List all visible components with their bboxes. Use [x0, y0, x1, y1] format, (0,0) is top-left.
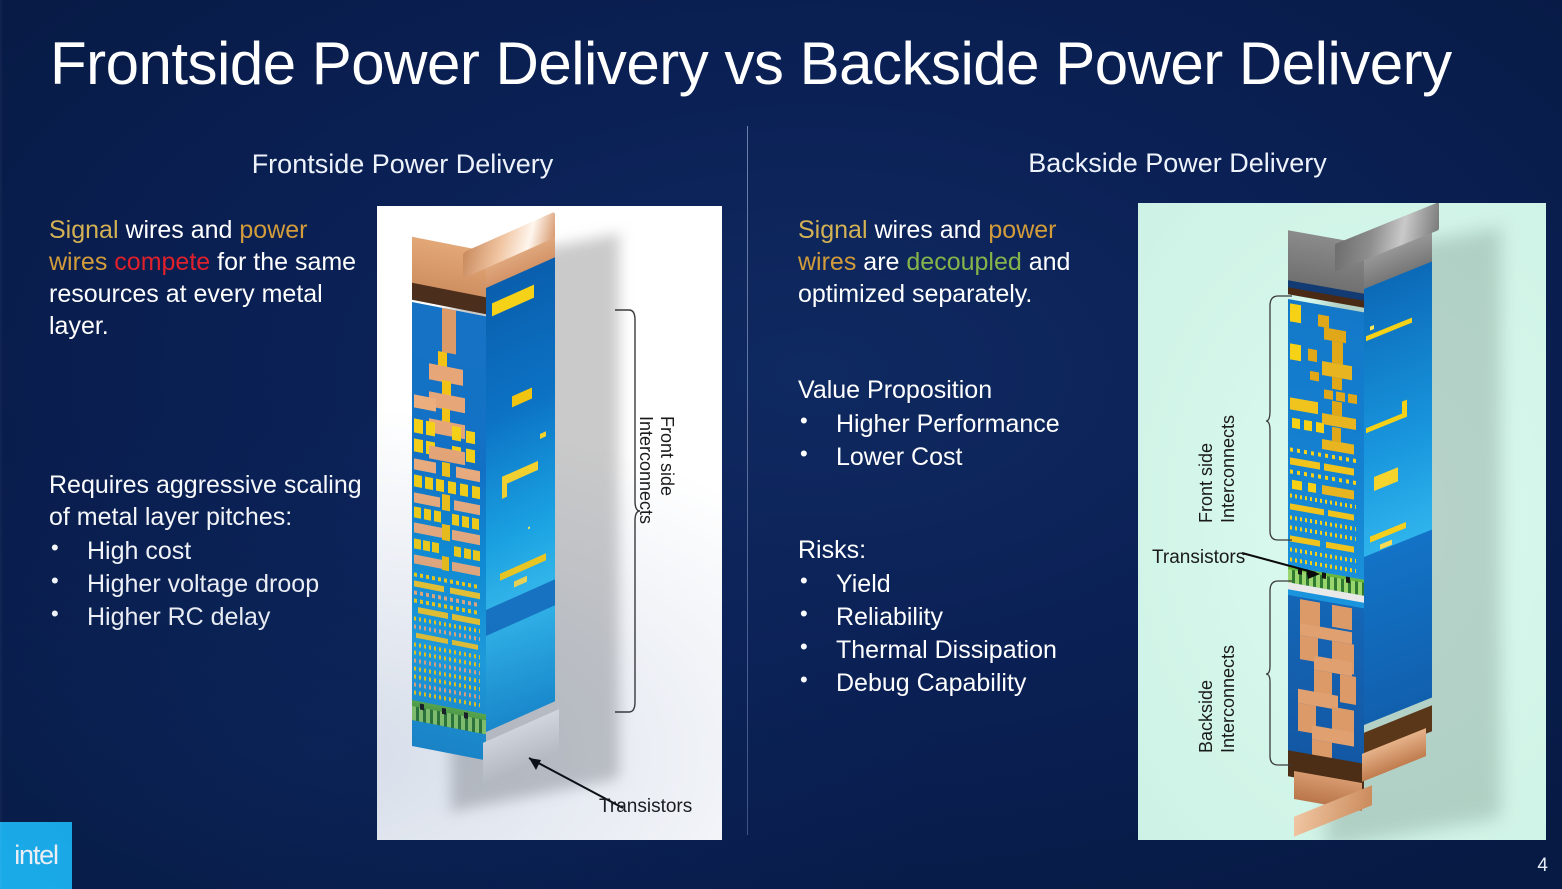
metal-wire: [442, 524, 450, 542]
metal-wire: [466, 430, 475, 444]
copper-rail: [454, 500, 480, 515]
metal-wire: [472, 518, 479, 530]
page-number: 4: [1537, 855, 1548, 877]
frontside-interconnects-brace-right: [1266, 293, 1294, 543]
risks-heading: Risks:: [798, 534, 1128, 566]
page-title: Frontside Power Delivery vs Backside Pow…: [50, 32, 1550, 95]
metal-wire: [416, 633, 448, 644]
metal-wire: [452, 614, 480, 625]
left-lead-conn: wires and: [119, 216, 240, 244]
metal-wire: [426, 421, 435, 437]
value-proposition-heading: Value Proposition: [798, 374, 1128, 406]
backside-interconnects-label-line1: Backside: [1196, 645, 1218, 753]
risks-bullets: Yield Reliability Thermal Dissipation De…: [798, 568, 1128, 699]
right-risks-block: Risks: Yield Reliability Thermal Dissipa…: [798, 534, 1128, 699]
left-lead-compete: compete: [114, 248, 210, 276]
metal-wire: [423, 540, 430, 551]
metal-wire: [1324, 463, 1354, 475]
metal-wire: [452, 640, 478, 650]
backside-region-front-face: [1288, 595, 1364, 776]
side-wire: [502, 475, 507, 499]
metal-wire: [454, 546, 461, 557]
transistor-gate: [420, 704, 424, 711]
metal-wire: [452, 514, 459, 526]
copper-power-rail: [1332, 605, 1352, 631]
transistors-label-right: Transistors: [1152, 547, 1245, 569]
backside-diagram-panel: Front side Interconnects Transistors Bac…: [1138, 203, 1546, 840]
right-column-heading: Backside Power Delivery: [895, 148, 1460, 179]
frontside-interconnects-label-line2: Interconnects: [635, 416, 656, 524]
right-lead-are: are: [863, 248, 906, 276]
backside-interconnects-label: Backside Interconnects: [1196, 645, 1239, 753]
metal-wire: [460, 483, 468, 497]
frontside-interconnects-label-right: Front side Interconnects: [1196, 415, 1239, 523]
side-wire: [1366, 412, 1406, 433]
backside-region-side-face: [1364, 530, 1432, 725]
list-item: Lower Cost: [798, 441, 1128, 473]
transistors-label-left: Transistors: [599, 796, 692, 818]
list-item: Reliability: [798, 601, 1128, 633]
copper-rail: [414, 522, 442, 537]
metal-wire: [1336, 391, 1345, 402]
metal-wire: [414, 474, 422, 488]
right-lead-signal: Signal: [798, 216, 868, 244]
metal-wire: [432, 542, 439, 553]
metal-wire: [1322, 485, 1354, 500]
transistor-gate: [464, 712, 468, 719]
metal-wire: [462, 516, 469, 528]
list-item: Yield: [798, 568, 1128, 600]
list-item: Higher RC delay: [49, 601, 379, 633]
metal-wire: [466, 448, 475, 463]
transistors-pointer-right: [1238, 543, 1328, 583]
slide-canvas: Frontside Power Delivery vs Backside Pow…: [0, 0, 1562, 889]
left-column-heading: Frontside Power Delivery: [120, 149, 685, 180]
metal-wire: [1308, 349, 1317, 363]
list-item: Higher Performance: [798, 408, 1128, 440]
copper-power-rail: [1340, 674, 1356, 705]
list-item: Thermal Dissipation: [798, 634, 1128, 666]
side-wire: [528, 526, 530, 529]
side-wire: [502, 461, 538, 486]
metal-wire: [1348, 394, 1357, 405]
left-scaling-bullets: High cost Higher voltage droop Higher RC…: [49, 535, 379, 633]
copper-rail: [414, 458, 436, 473]
backside-interconnects-label-line2: Interconnects: [1218, 645, 1240, 753]
left-scaling-block: Requires aggressive scaling of metal lay…: [49, 469, 379, 633]
transistor-gate: [442, 708, 446, 715]
right-lead-conn: wires and: [868, 216, 989, 244]
metal-wire: [414, 506, 421, 518]
metal-wire: [473, 550, 480, 561]
die-front-face: [412, 302, 486, 760]
metal-wire: [442, 556, 449, 571]
frontside-diagram-panel: Front side Interconnects Transistors: [377, 206, 722, 840]
metal-wire: [414, 438, 423, 453]
metal-wire: [425, 477, 433, 491]
side-wire: [1370, 325, 1374, 331]
metal-wire: [414, 538, 421, 549]
left-lead-paragraph: Signal wires and power wires compete for…: [49, 214, 367, 342]
frontside-interconnects-label-line1: Front side: [656, 416, 677, 524]
metal-wire: [448, 481, 456, 495]
metal-wire: [1332, 377, 1342, 391]
intel-logo: intel: [0, 822, 72, 889]
die-side-face: [486, 257, 555, 732]
metal-wire: [1326, 542, 1354, 553]
intel-logo-text: intel: [14, 840, 58, 871]
side-band: [486, 579, 555, 636]
side-wire: [540, 431, 546, 439]
copper-via: [442, 308, 456, 355]
right-lead-decoupled: decoupled: [906, 248, 1021, 276]
transistor-gate: [1346, 577, 1350, 584]
value-proposition-bullets: Higher Performance Lower Cost: [798, 408, 1128, 473]
copper-rail: [456, 467, 480, 483]
metal-wire: [434, 510, 441, 522]
metal-wire: [1310, 371, 1319, 382]
metal-wire: [452, 426, 461, 442]
metal-wire: [1316, 422, 1324, 433]
left-lead-signal: Signal: [49, 216, 119, 244]
right-value-proposition-block: Value Proposition Higher Performance Low…: [798, 374, 1128, 473]
side-wire: [514, 576, 527, 588]
metal-wire: [1308, 483, 1316, 493]
metal-wire: [1290, 503, 1324, 515]
side-wire: [1370, 522, 1406, 543]
list-item: High cost: [49, 535, 379, 567]
frontside-interconnects-label: Front side Interconnects: [635, 416, 677, 524]
left-scaling-heading: Requires aggressive scaling of metal lay…: [49, 469, 379, 533]
copper-rail: [452, 530, 480, 545]
side-wire: [492, 285, 534, 317]
copper-rail: [452, 562, 480, 576]
metal-wire: [442, 462, 450, 478]
list-item: Higher voltage droop: [49, 568, 379, 600]
frontside-interconnects-label-right-line2: Interconnects: [1218, 415, 1240, 523]
side-wire: [1402, 400, 1407, 419]
metal-wire: [1318, 314, 1329, 328]
copper-rail: [414, 492, 440, 507]
metal-wire: [1324, 389, 1333, 400]
metal-wire: [1328, 510, 1354, 521]
side-wire: [1374, 467, 1398, 491]
side-wire: [512, 388, 532, 408]
copper-rail: [414, 554, 444, 569]
metal-wire: [442, 494, 450, 512]
metal-wire: [1304, 420, 1312, 431]
backside-die-stack: [1288, 221, 1546, 821]
backside-interconnects-brace: [1266, 578, 1294, 768]
metal-wire: [414, 418, 423, 434]
right-lead-paragraph: Signal wires and power wires are decoupl…: [798, 214, 1118, 310]
metal-wire: [472, 486, 480, 500]
metal-wire: [424, 508, 431, 520]
list-item: Debug Capability: [798, 667, 1128, 699]
metal-wire: [1290, 457, 1320, 469]
metal-wire: [1332, 341, 1343, 365]
metal-wire: [464, 548, 471, 559]
metal-wire: [436, 479, 444, 493]
metal-wire: [1322, 439, 1354, 455]
frontside-interconnects-label-right-line1: Front side: [1196, 415, 1218, 523]
metal-wire: [1290, 397, 1318, 414]
column-divider: [747, 126, 748, 835]
